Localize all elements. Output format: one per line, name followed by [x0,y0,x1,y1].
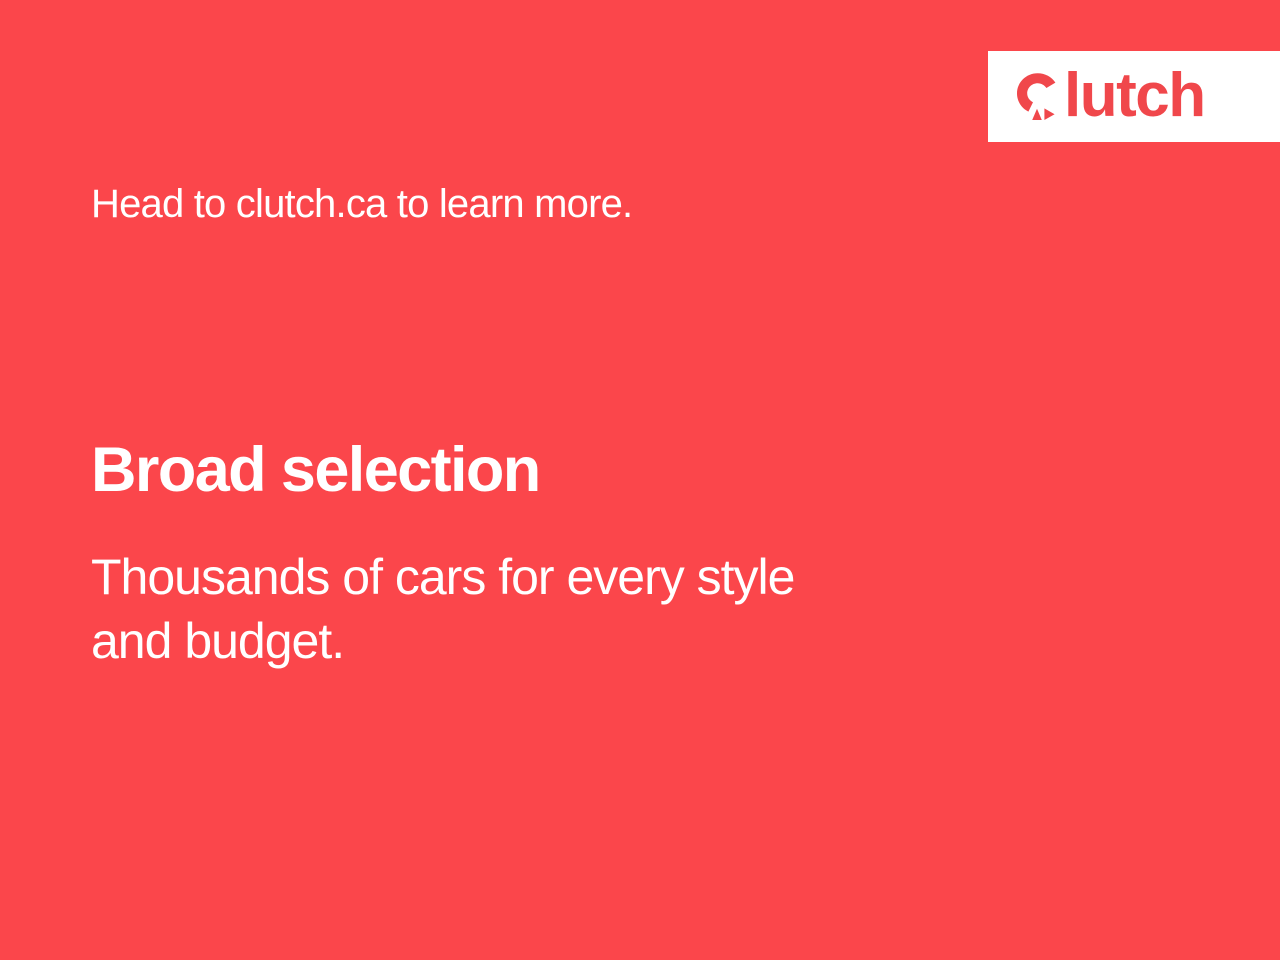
subhead-line-2: and budget. [91,609,1071,673]
slide-canvas: lutch Head to clutch.ca to learn more. B… [0,0,1280,960]
clutch-logo: lutch [1014,65,1205,127]
clutch-wordmark: lutch [1064,65,1205,127]
subhead-line-1: Thousands of cars for every style [91,545,1071,609]
page-title: Broad selection [91,437,540,503]
kicker-text: Head to clutch.ca to learn more. [91,182,632,226]
subhead-text: Thousands of cars for every style and bu… [91,545,1071,673]
brand-logo-plate: lutch [988,51,1280,142]
clutch-c-mark-icon [1014,70,1060,122]
